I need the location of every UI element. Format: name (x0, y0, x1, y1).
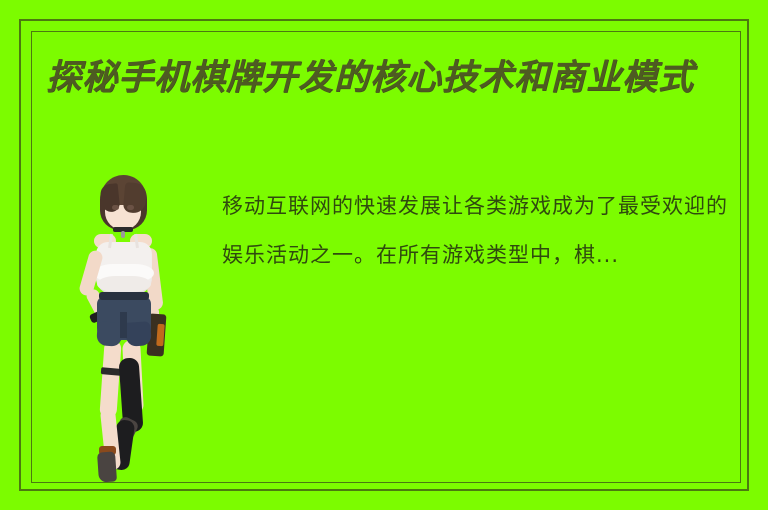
eye-left (112, 205, 119, 210)
choker-pendant (121, 231, 125, 238)
shorts-leg-right (125, 321, 152, 347)
illustration-description: 短发动漫少女插画 (72, 172, 73, 173)
page-title: 探秘手机棋牌开发的核心技术和商业模式 (46, 56, 736, 100)
shorts-leg-left (96, 321, 123, 347)
shorts-center-seam (120, 312, 127, 338)
article-excerpt: 移动互联网的快速发展让各类游戏成为了最受欢迎的娱乐活动之一。在所有游戏类型中，棋… (222, 182, 732, 280)
boot-left (97, 451, 117, 482)
top-ruffle-lower (97, 276, 151, 292)
waist-belt (99, 292, 149, 300)
anime-girl-illustration: 短发动漫少女插画 (72, 172, 176, 482)
leg-left-thigh (99, 340, 121, 419)
eye-right (127, 205, 134, 210)
article-card: 探秘手机棋牌开发的核心技术和商业模式 短发动漫少女插画 (0, 0, 768, 510)
